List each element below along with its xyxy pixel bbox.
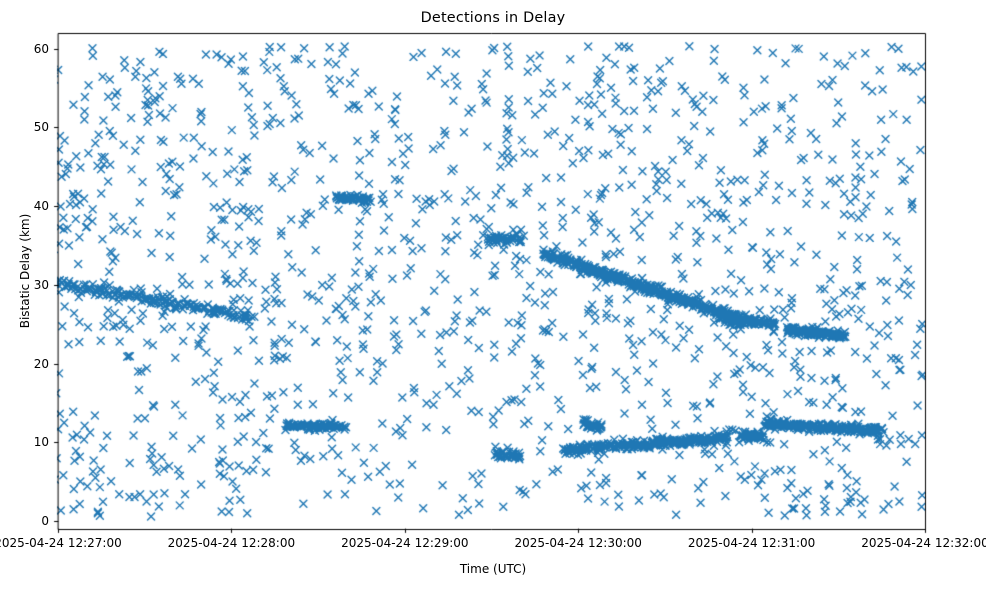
y-axis-label: Bistatic Delay (km) — [18, 151, 32, 391]
x-axis-label: Time (UTC) — [0, 562, 986, 576]
scatter-plot-canvas — [0, 0, 986, 590]
x-tick-label: 2025-04-24 12:32:00 — [861, 536, 986, 550]
y-tick-label: 50 — [0, 120, 49, 134]
y-tick-label: 30 — [0, 278, 49, 292]
y-tick-label: 40 — [0, 199, 49, 213]
y-tick-label: 60 — [0, 42, 49, 56]
y-tick-label: 0 — [0, 514, 49, 528]
x-tick-label: 2025-04-24 12:27:00 — [0, 536, 122, 550]
x-tick-label: 2025-04-24 12:29:00 — [341, 536, 468, 550]
chart-title: Detections in Delay — [0, 10, 986, 26]
x-tick-label: 2025-04-24 12:28:00 — [168, 536, 295, 550]
x-tick-label: 2025-04-24 12:31:00 — [688, 536, 815, 550]
x-tick-label: 2025-04-24 12:30:00 — [514, 536, 641, 550]
y-tick-label: 20 — [0, 357, 49, 371]
matplotlib-figure: Detections in Delay Time (UTC) Bistatic … — [0, 0, 986, 590]
y-tick-label: 10 — [0, 435, 49, 449]
